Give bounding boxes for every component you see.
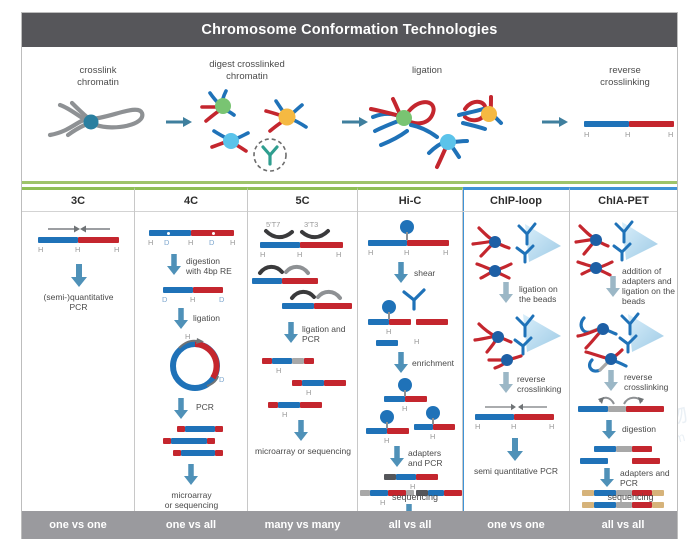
dna-segment-red (324, 380, 346, 386)
diagram-root: 赛诚生物 gzscbio.com 赛诚生物 gzscbio.com 赛诚生物 g… (0, 0, 699, 558)
h-mark: H (230, 238, 235, 247)
arrow-down-chiapet-4 (600, 468, 614, 488)
step-text-chiapet-adapters-pcr: adapters and PCR (620, 468, 676, 488)
dna-segment-red (292, 380, 302, 386)
h-mark: H (384, 436, 389, 445)
dna-segment-red (207, 438, 215, 444)
arrow-down-chiploop-3 (507, 438, 523, 462)
h-mark: H (549, 422, 554, 431)
h-mark: H (260, 250, 265, 259)
dna-segment-blue (594, 446, 616, 452)
h-mark: H (297, 250, 302, 259)
dna-segment-red (215, 426, 223, 432)
dna-segment-red (282, 278, 318, 284)
arrow-down-5c-2 (294, 420, 308, 442)
arrow-down-3c-1 (71, 264, 87, 288)
column-5c: 5C 5'T7 3'T3 H H H (248, 187, 358, 511)
arrow-down-hic-2 (394, 352, 408, 374)
step-text-chiapet-sequencing: sequencing (578, 492, 683, 502)
arrow-down-chiapet-1 (606, 276, 620, 298)
step-text-5c-ligation-pcr: ligation and PCR (302, 324, 358, 344)
d-mark: D (164, 238, 169, 247)
dna-segment-blue (252, 278, 282, 284)
step-text-chiapet-digestion: digestion (622, 424, 674, 434)
primer-probes-5c-3 (290, 290, 350, 302)
antibody-icon-hic (400, 288, 428, 310)
primer-probes-5c-1 (264, 229, 346, 241)
arrow-down-chiploop-2 (499, 372, 513, 394)
step-text-chiploop-pcr: semi quantitative PCR (465, 466, 567, 476)
d-mark: D (219, 295, 224, 304)
dna-segment-red (300, 242, 343, 248)
arrow-right-1 (166, 115, 192, 129)
footer-cell-hic: all vs all (358, 511, 463, 539)
column-header-hic: Hi-C (358, 190, 462, 212)
biotin-stem (388, 312, 390, 319)
arrow-right-2 (342, 115, 368, 129)
digested-chromatin-art (190, 85, 330, 175)
dna-segment-red (632, 446, 652, 452)
arrow-down-4c-2 (174, 308, 188, 330)
dna-segment-blue (368, 240, 407, 246)
step-text-4c-digestion: digestion with 4bp RE (186, 256, 248, 276)
h-mark: H (276, 366, 281, 375)
column-body-4c: H D H D H digestion with 4bp RE D H D (135, 212, 247, 511)
restriction-site (212, 232, 215, 235)
column-body-hic: H H H shear (358, 212, 462, 511)
h-mark: H (368, 248, 373, 257)
step-label-crosslink: crosslink chromatin (52, 65, 144, 88)
footer-cell-4c: one vs all (135, 511, 248, 539)
dna-segment-red (193, 287, 223, 293)
step-text-hic-enrichment: enrichment (412, 358, 463, 368)
crosslink-chromatin-art (42, 95, 162, 145)
step-text-4c-pcr: PCR (196, 402, 236, 412)
dna-segment-red (407, 240, 449, 246)
column-header-5c: 5C (248, 190, 357, 212)
arrow-down-hic-4 (402, 504, 416, 511)
step-label-ligation: ligation (382, 65, 472, 77)
bead-complex-chiapet-2 (576, 308, 676, 374)
dna-segment-blue (594, 502, 616, 508)
dna-segment-blue (260, 242, 300, 248)
step-text-5c-readout: microarray or sequencing (250, 446, 356, 456)
column-3c: 3C H H H (semi-)quantitative PCR (22, 187, 135, 511)
h-mark: H (190, 295, 195, 304)
column-4c: 4C H D H D H digestion with 4bp RE D (135, 187, 248, 511)
footer-cell-5c: many vs many (248, 511, 358, 539)
dna-segment-blue (414, 424, 433, 430)
linker-segment (616, 502, 632, 508)
page-title: Chromosome Conformation Technologies (22, 13, 677, 47)
h-mark: H (511, 422, 516, 431)
h-mark: H (475, 422, 480, 431)
primer-probes-5c-2 (258, 265, 318, 277)
dna-segment-blue (163, 287, 193, 293)
dna-segment-red (416, 474, 438, 480)
dna-segment-red (215, 450, 223, 456)
step-text-chiapet-adapters: addition of adapters and ligation on the… (622, 266, 677, 306)
h-mark: H (625, 130, 630, 139)
h-mark: H (306, 388, 311, 397)
dna-segment-red (632, 458, 660, 464)
adapter-segment-tan (582, 502, 594, 508)
primer-arrows-chiploop (483, 402, 549, 412)
arrow-down-chiapet-2 (604, 370, 618, 392)
column-chiploop: ChIP-loop (463, 187, 570, 511)
dna-segment-red (632, 502, 652, 508)
arrow-down-hic-1 (394, 262, 408, 284)
dna-segment-blue (185, 426, 215, 432)
step-label-reverse: reverse crosslinking (577, 65, 673, 88)
h-mark: H (75, 245, 80, 254)
dna-segment-red (300, 402, 322, 408)
dna-segment-blue (181, 450, 215, 456)
footer-cell-chiapet: all vs all (570, 511, 677, 539)
column-header-chiploop: ChIP-loop (463, 190, 569, 212)
h-mark: H (584, 130, 589, 139)
h-mark: H (188, 238, 193, 247)
h-mark: H (386, 327, 391, 336)
step-text-4c-readout: microarray or sequencing (141, 490, 242, 510)
h-mark: H (430, 432, 435, 441)
dna-segment-blue (171, 438, 207, 444)
dna-segment-blue (149, 230, 191, 236)
h-mark: H (185, 332, 190, 341)
step-text-3c-pcr: (semi-)quantitative PCR (28, 292, 129, 312)
dna-segment-blue (578, 406, 608, 412)
ligation-art (367, 87, 517, 175)
dna-segment-red (304, 358, 314, 364)
dna-segment-blue (368, 319, 389, 325)
arrow-down-hic-3 (390, 446, 404, 468)
column-body-chiploop: ligation on the beads (463, 212, 569, 511)
arrow-right-3 (542, 115, 568, 129)
arrow-down-4c-4 (184, 464, 198, 486)
step-text-hic-sequencing: sequencing (365, 492, 465, 502)
dna-segment-blue (278, 402, 300, 408)
restriction-site (167, 232, 170, 235)
dna-segment-blue (376, 340, 398, 346)
dna-segment-blue (272, 358, 292, 364)
dna-segment-blue (282, 303, 314, 309)
bead-complex-chiploop-2 (473, 312, 569, 370)
column-header-3c: 3C (22, 190, 134, 212)
dna-segment-red (416, 319, 448, 325)
dna-segment-red (268, 402, 278, 408)
linker-segment (616, 446, 632, 452)
column-chiapet: ChIA-PET (570, 187, 677, 511)
step-text-chiploop-ligation: ligation on the beads (519, 284, 570, 304)
dna-segment-red (314, 303, 352, 309)
column-hic: Hi-C H H H shear (358, 187, 463, 511)
dna-segment-red (433, 424, 455, 430)
arrow-down-4c-3 (174, 398, 188, 420)
column-body-3c: H H H (semi-)quantitative PCR (22, 212, 134, 511)
h-mark: H (402, 404, 407, 413)
adapter-segment-tan (652, 502, 664, 508)
step-text-chiapet-reverse: reverse crosslinking (624, 372, 677, 392)
h-mark: H (38, 245, 43, 254)
footer-row: one vs one one vs all many vs many all v… (22, 511, 677, 539)
d-mark: D (209, 238, 214, 247)
circular-dna-4c (161, 334, 229, 394)
dna-segment-red (626, 406, 664, 412)
dna-segment-blue (38, 237, 78, 243)
dna-segment-red (389, 319, 411, 325)
column-body-chiapet: addition of adapters and ligation on the… (570, 212, 677, 511)
h-mark: H (282, 410, 287, 419)
h-mark: H (414, 337, 419, 346)
column-header-chiapet: ChIA-PET (570, 190, 677, 212)
arrow-down-chiploop-1 (499, 282, 513, 304)
dna-segment-red (514, 414, 554, 420)
dna-segment-red (405, 396, 427, 402)
step-text-hic-adapters: adapters and PCR (408, 448, 462, 468)
top-workflow-panel: crosslink chromatin digest crosslinked c… (22, 47, 677, 184)
bead-complex-chiploop-1 (469, 218, 569, 280)
dna-segment-red (173, 450, 181, 456)
footer-cell-3c: one vs one (22, 511, 135, 539)
arrow-down-4c-1 (167, 254, 181, 276)
step-text-4c-ligation: ligation (193, 313, 245, 323)
footer-cell-chiploop: one vs one (463, 511, 570, 539)
dna-segment-blue (584, 121, 629, 127)
step-text-chiploop-reverse: reverse crosslinking (517, 374, 570, 394)
dna-segment-blue (366, 428, 387, 434)
h-mark: H (148, 238, 153, 247)
dna-segment-red (163, 438, 171, 444)
h-mark: H (114, 245, 119, 254)
dna-segment-red (177, 426, 185, 432)
dna-segment-blue (396, 474, 416, 480)
dna-segment-blue (384, 396, 405, 402)
loop-arrows-chiapet (598, 394, 648, 406)
step-text-hic-shear: shear (414, 268, 458, 278)
h-mark: H (336, 250, 341, 259)
d-mark: D (162, 295, 167, 304)
d-mark: D (219, 375, 224, 384)
technology-columns: 3C H H H (semi-)quantitative PCR (22, 187, 677, 511)
column-body-5c: 5'T7 3'T3 H H H (248, 212, 357, 511)
h-mark: H (404, 248, 409, 257)
adapter-segment (384, 474, 396, 480)
dna-segment-blue (475, 414, 514, 420)
step-label-digest: digest crosslinked chromatin (182, 59, 312, 82)
arrow-down-5c-1 (284, 322, 298, 344)
arrow-down-chiapet-3 (602, 420, 616, 440)
dna-segment-blue (302, 380, 324, 386)
h-mark: H (443, 248, 448, 257)
dna-segment-red (78, 237, 119, 243)
dna-segment-red (262, 358, 272, 364)
column-header-4c: 4C (135, 190, 247, 212)
biotin-stem (406, 232, 408, 240)
linker-segment (292, 358, 304, 364)
h-mark: H (668, 130, 673, 139)
dna-segment-blue (580, 458, 608, 464)
primer-arrows-3c (46, 224, 112, 234)
dna-segment-red (629, 121, 674, 127)
linker-segment (608, 406, 626, 412)
dna-segment-red (387, 428, 409, 434)
